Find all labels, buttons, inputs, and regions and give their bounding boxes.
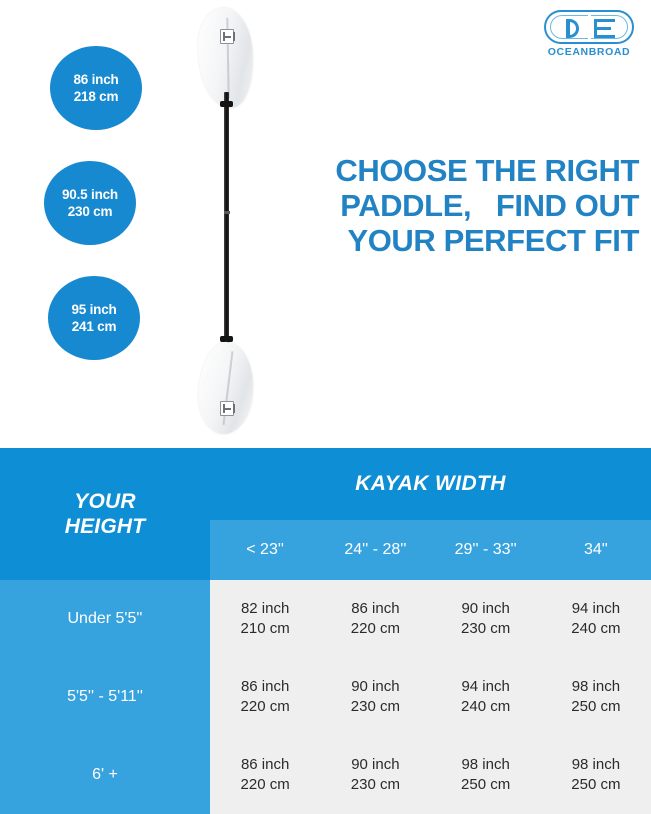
size-bubble: 90.5 inch 230 cm bbox=[44, 161, 136, 245]
cell-cm: 250 cm bbox=[431, 775, 541, 795]
cell-inch: 90 inch bbox=[431, 599, 541, 619]
cell-inch: 94 inch bbox=[541, 599, 651, 619]
table-cell: 94 inch 240 cm bbox=[541, 580, 651, 658]
cell-cm: 240 cm bbox=[541, 619, 651, 639]
column-header-width-3: 34'' bbox=[541, 520, 651, 580]
cell-cm: 240 cm bbox=[431, 697, 541, 717]
table-cell: 98 inch 250 cm bbox=[541, 736, 651, 814]
paddle-blade-label-bottom bbox=[220, 401, 234, 416]
table-header-row-primary: YOUR HEIGHT KAYAK WIDTH bbox=[0, 448, 651, 520]
cell-inch: 86 inch bbox=[210, 677, 320, 697]
table-row: 6' + 86 inch 220 cm 90 inch 230 cm 98 in… bbox=[0, 736, 651, 814]
cell-cm: 220 cm bbox=[210, 697, 320, 717]
table-cell: 90 inch 230 cm bbox=[320, 736, 430, 814]
row-header-height: Under 5'5'' bbox=[0, 580, 210, 658]
logo-letter-e-bar-top bbox=[596, 19, 615, 22]
table-cell: 90 inch 230 cm bbox=[320, 658, 430, 736]
table-cell: 82 inch 210 cm bbox=[210, 580, 320, 658]
cell-inch: 86 inch bbox=[320, 599, 430, 619]
table-cell: 86 inch 220 cm bbox=[210, 658, 320, 736]
size-bubble-inch: 95 inch bbox=[71, 301, 116, 318]
brand-logo: OCEANBROAD bbox=[541, 10, 637, 62]
cell-inch: 90 inch bbox=[320, 677, 430, 697]
table-row: Under 5'5'' 82 inch 210 cm 86 inch 220 c… bbox=[0, 580, 651, 658]
your-height-line1: YOUR bbox=[0, 489, 210, 514]
column-header-width-2: 29'' - 33'' bbox=[431, 520, 541, 580]
size-bubble-inch: 90.5 inch bbox=[62, 186, 118, 203]
size-bubble-cm: 218 cm bbox=[74, 88, 119, 105]
headline-line-3: YOUR PERFECT FIT bbox=[255, 223, 639, 258]
page-title: CHOOSE THE RIGHT PADDLE, FIND OUT YOUR P… bbox=[255, 153, 639, 258]
paddle-size-table: YOUR HEIGHT KAYAK WIDTH < 23'' 24'' - 28… bbox=[0, 448, 651, 814]
cell-cm: 220 cm bbox=[210, 775, 320, 795]
logo-divider bbox=[588, 14, 591, 40]
cell-cm: 230 cm bbox=[320, 697, 430, 717]
logo-letter-e-bar-mid bbox=[596, 27, 611, 30]
row-header-height: 5'5'' - 5'11'' bbox=[0, 658, 210, 736]
size-bubble-cm: 241 cm bbox=[72, 318, 117, 335]
cell-inch: 98 inch bbox=[541, 755, 651, 775]
column-header-kayak-width: KAYAK WIDTH bbox=[210, 448, 651, 520]
column-header-your-height: YOUR HEIGHT bbox=[0, 448, 210, 580]
cell-cm: 250 cm bbox=[541, 775, 651, 795]
logo-letter-e-bar-bottom bbox=[596, 35, 615, 38]
paddle-blade-bottom bbox=[196, 340, 256, 436]
brand-wordmark: OCEANBROAD bbox=[541, 46, 637, 58]
column-header-width-1: 24'' - 28'' bbox=[320, 520, 430, 580]
cell-cm: 230 cm bbox=[320, 775, 430, 795]
size-bubble: 86 inch 218 cm bbox=[50, 46, 142, 130]
kayak-paddle-icon bbox=[185, 6, 265, 431]
your-height-line2: HEIGHT bbox=[0, 514, 210, 539]
cell-inch: 90 inch bbox=[320, 755, 430, 775]
cell-inch: 94 inch bbox=[431, 677, 541, 697]
table-row: 5'5'' - 5'11'' 86 inch 220 cm 90 inch 23… bbox=[0, 658, 651, 736]
size-bubble-cm: 230 cm bbox=[68, 203, 113, 220]
headline-line-2: PADDLE, FIND OUT bbox=[255, 188, 639, 223]
headline-line-1: CHOOSE THE RIGHT bbox=[255, 153, 639, 188]
table-cell: 86 inch 220 cm bbox=[210, 736, 320, 814]
row-header-height: 6' + bbox=[0, 736, 210, 814]
oceanbroad-monogram-icon bbox=[544, 10, 634, 44]
cell-cm: 210 cm bbox=[210, 619, 320, 639]
paddle-ferrule-top bbox=[220, 101, 233, 107]
cell-inch: 98 inch bbox=[541, 677, 651, 697]
paddle-blade-label-top bbox=[220, 29, 234, 44]
size-bubble: 95 inch 241 cm bbox=[48, 276, 140, 360]
cell-cm: 230 cm bbox=[431, 619, 541, 639]
hero-section: OCEANBROAD 86 inch 218 cm 90.5 inch 230 … bbox=[0, 0, 651, 448]
paddle-shaft bbox=[224, 92, 229, 356]
cell-inch: 82 inch bbox=[210, 599, 320, 619]
cell-cm: 250 cm bbox=[541, 697, 651, 717]
paddle-center-joint bbox=[224, 211, 230, 214]
table-cell: 98 inch 250 cm bbox=[431, 736, 541, 814]
cell-cm: 220 cm bbox=[320, 619, 430, 639]
cell-inch: 86 inch bbox=[210, 755, 320, 775]
cell-inch: 98 inch bbox=[431, 755, 541, 775]
table-cell: 94 inch 240 cm bbox=[431, 658, 541, 736]
table-cell: 86 inch 220 cm bbox=[320, 580, 430, 658]
size-bubble-inch: 86 inch bbox=[73, 71, 118, 88]
table-cell: 98 inch 250 cm bbox=[541, 658, 651, 736]
column-header-width-0: < 23'' bbox=[210, 520, 320, 580]
table-cell: 90 inch 230 cm bbox=[431, 580, 541, 658]
